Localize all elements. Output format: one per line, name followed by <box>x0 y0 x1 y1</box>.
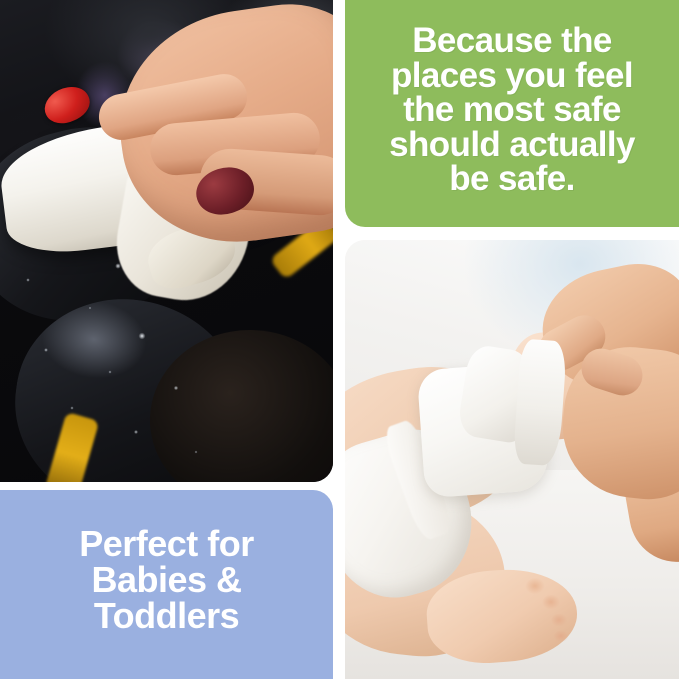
baby-toes <box>521 576 583 654</box>
product-infographic-canvas: Because the places you feel the most saf… <box>0 0 679 679</box>
green-headline-panel: Because the places you feel the most saf… <box>345 0 679 227</box>
green-headline-line-1: Because the <box>351 24 673 59</box>
blue-headline-line-1: Perfect for <box>8 526 325 562</box>
photo-carseat-wipe <box>0 0 333 482</box>
green-headline: Because the places you feel the most saf… <box>345 24 679 203</box>
blue-headline-panel: Perfect for Babies & Toddlers <box>0 490 333 679</box>
green-headline-line-3: the most safe <box>351 93 673 128</box>
blue-headline-line-3: Toddlers <box>8 598 325 634</box>
blue-headline-line-2: Babies & <box>8 562 325 598</box>
green-headline-line-5: be safe. <box>351 162 673 197</box>
photo-baby-wipe <box>345 240 679 679</box>
blue-headline: Perfect for Babies & Toddlers <box>0 526 333 644</box>
green-headline-line-2: places you feel <box>351 59 673 94</box>
green-headline-line-4: should actually <box>351 128 673 163</box>
